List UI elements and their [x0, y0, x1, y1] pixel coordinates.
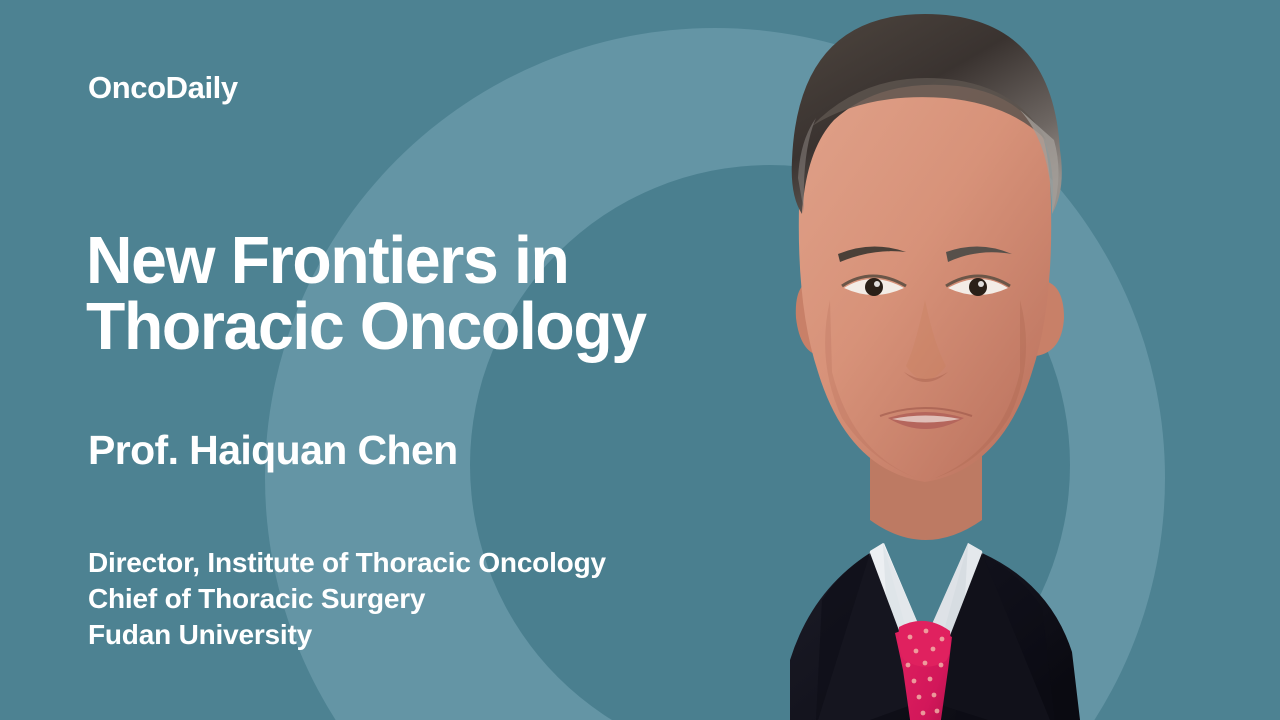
slide-text-content: OncoDaily New Frontiers in Thoracic Onco… [0, 0, 820, 720]
speaker-name: Prof. Haiquan Chen [88, 430, 458, 471]
slide-title: New Frontiers in Thoracic Oncology [86, 228, 646, 361]
presentation-slide: OncoDaily New Frontiers in Thoracic Onco… [0, 0, 1280, 720]
speaker-affiliation: Director, Institute of Thoracic Oncology… [88, 545, 606, 653]
oncodaily-logo[interactable]: OncoDaily [88, 72, 238, 103]
